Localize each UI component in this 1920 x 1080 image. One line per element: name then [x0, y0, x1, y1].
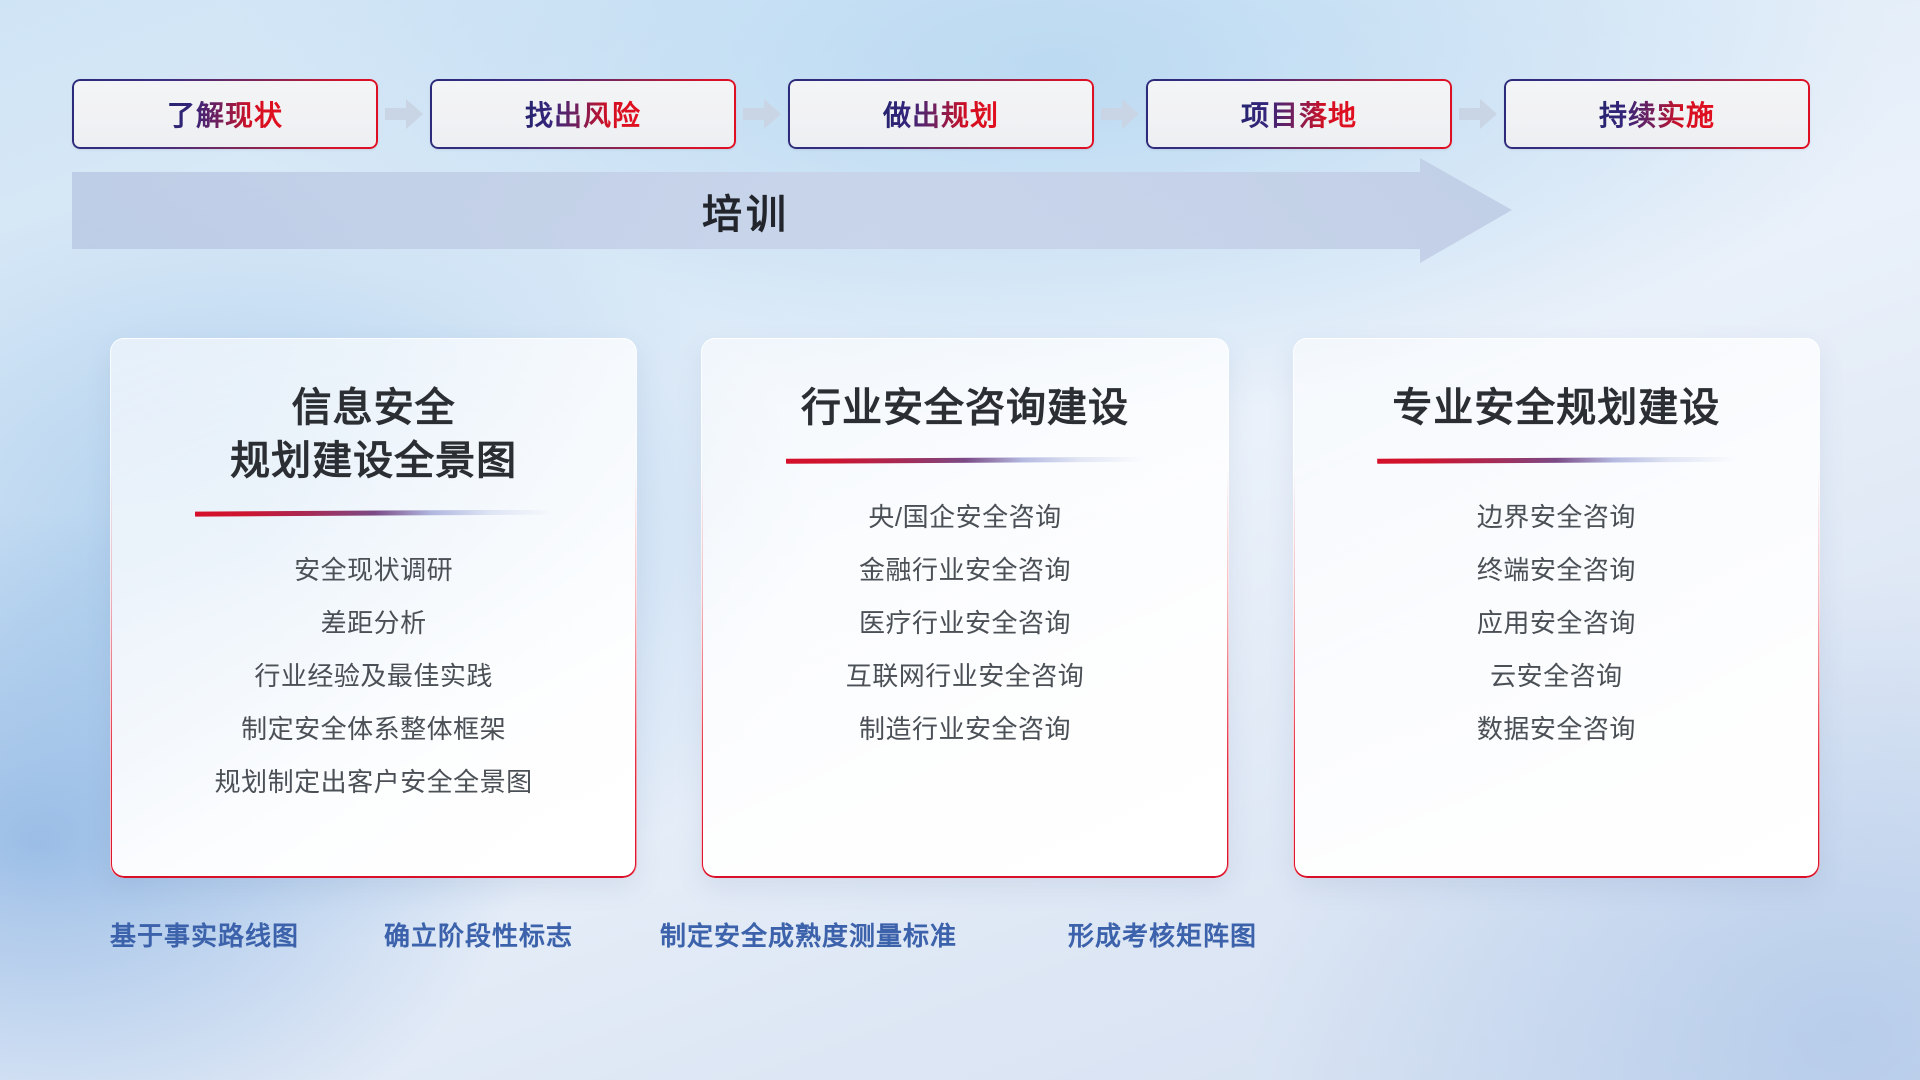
list-item: 差距分析	[321, 604, 427, 643]
footer-label-3: 制定安全成熟度测量标准	[660, 916, 957, 953]
list-item: 金融行业安全咨询	[859, 551, 1071, 590]
step-box-5[interactable]: 持续实施	[1504, 79, 1810, 149]
card-1-list: 安全现状调研 差距分析 行业经验及最佳实践 制定安全体系整体框架 规划制定出客户…	[215, 551, 533, 802]
list-item: 安全现状调研	[294, 551, 453, 590]
list-item: 央/国企安全咨询	[868, 498, 1061, 537]
footer-label-1: 基于事实路线图	[110, 916, 299, 953]
step-arrow-icon-2	[736, 79, 788, 149]
card-1-title: 信息安全 规划建设全景图	[230, 382, 517, 488]
step-arrow-icon-4	[1452, 79, 1504, 149]
card-2-divider	[786, 457, 1144, 464]
footer-label-row: 基于事实路线图 确立阶段性标志 制定安全成熟度测量标准 形成考核矩阵图	[0, 916, 1920, 964]
slide-canvas: 了解现状 找出风险 做出规划 项目落地	[0, 0, 1920, 1080]
card-row: 信息安全 规划建设全景图 安全现状调研 差距分析 行业经验及最佳实践 制定安全体…	[110, 338, 1820, 878]
list-item: 制造行业安全咨询	[859, 710, 1071, 749]
step-label-5: 持续实施	[1599, 94, 1715, 134]
card-1-divider	[195, 510, 553, 517]
card-2[interactable]: 行业安全咨询建设 央/国企安全咨询 金融行业安全咨询 医疗行业安全咨询 互联网行…	[701, 338, 1228, 878]
card-2-inner: 行业安全咨询建设 央/国企安全咨询 金融行业安全咨询 医疗行业安全咨询 互联网行…	[701, 338, 1228, 878]
process-step-row: 了解现状 找出风险 做出规划 项目落地	[72, 78, 1848, 150]
training-banner: 培训	[72, 158, 1512, 263]
step-box-2[interactable]: 找出风险	[430, 79, 736, 149]
list-item: 规划制定出客户安全全景图	[215, 763, 533, 802]
step-box-1[interactable]: 了解现状	[72, 79, 378, 149]
card-1-inner: 信息安全 规划建设全景图 安全现状调研 差距分析 行业经验及最佳实践 制定安全体…	[110, 338, 637, 878]
step-label-1: 了解现状	[167, 94, 283, 134]
step-box-4[interactable]: 项目落地	[1146, 79, 1452, 149]
card-3[interactable]: 专业安全规划建设 边界安全咨询 终端安全咨询 应用安全咨询 云安全咨询 数据安全…	[1293, 338, 1820, 878]
card-3-title: 专业安全规划建设	[1392, 382, 1720, 435]
card-2-title: 行业安全咨询建设	[801, 382, 1129, 435]
list-item: 医疗行业安全咨询	[859, 604, 1071, 643]
card-1[interactable]: 信息安全 规划建设全景图 安全现状调研 差距分析 行业经验及最佳实践 制定安全体…	[110, 338, 637, 878]
step-arrow-icon-3	[1094, 79, 1146, 149]
step-arrow-icon-1	[378, 79, 430, 149]
list-item: 数据安全咨询	[1477, 710, 1636, 749]
list-item: 终端安全咨询	[1477, 551, 1636, 590]
list-item: 互联网行业安全咨询	[846, 657, 1085, 696]
list-item: 云安全咨询	[1490, 657, 1623, 696]
list-item: 制定安全体系整体框架	[241, 710, 506, 749]
card-3-inner: 专业安全规划建设 边界安全咨询 终端安全咨询 应用安全咨询 云安全咨询 数据安全…	[1293, 338, 1820, 878]
list-item: 应用安全咨询	[1477, 604, 1636, 643]
card-2-list: 央/国企安全咨询 金融行业安全咨询 医疗行业安全咨询 互联网行业安全咨询 制造行…	[846, 498, 1085, 749]
step-label-4: 项目落地	[1241, 94, 1357, 134]
list-item: 边界安全咨询	[1477, 498, 1636, 537]
banner-title: 培训	[72, 158, 1420, 263]
card-3-divider	[1377, 457, 1735, 464]
list-item: 行业经验及最佳实践	[254, 657, 493, 696]
step-label-2: 找出风险	[525, 94, 641, 134]
footer-label-4: 形成考核矩阵图	[1068, 916, 1257, 953]
step-box-3[interactable]: 做出规划	[788, 79, 1094, 149]
card-3-list: 边界安全咨询 终端安全咨询 应用安全咨询 云安全咨询 数据安全咨询	[1477, 498, 1636, 749]
step-label-3: 做出规划	[883, 94, 999, 134]
footer-label-2: 确立阶段性标志	[384, 916, 573, 953]
